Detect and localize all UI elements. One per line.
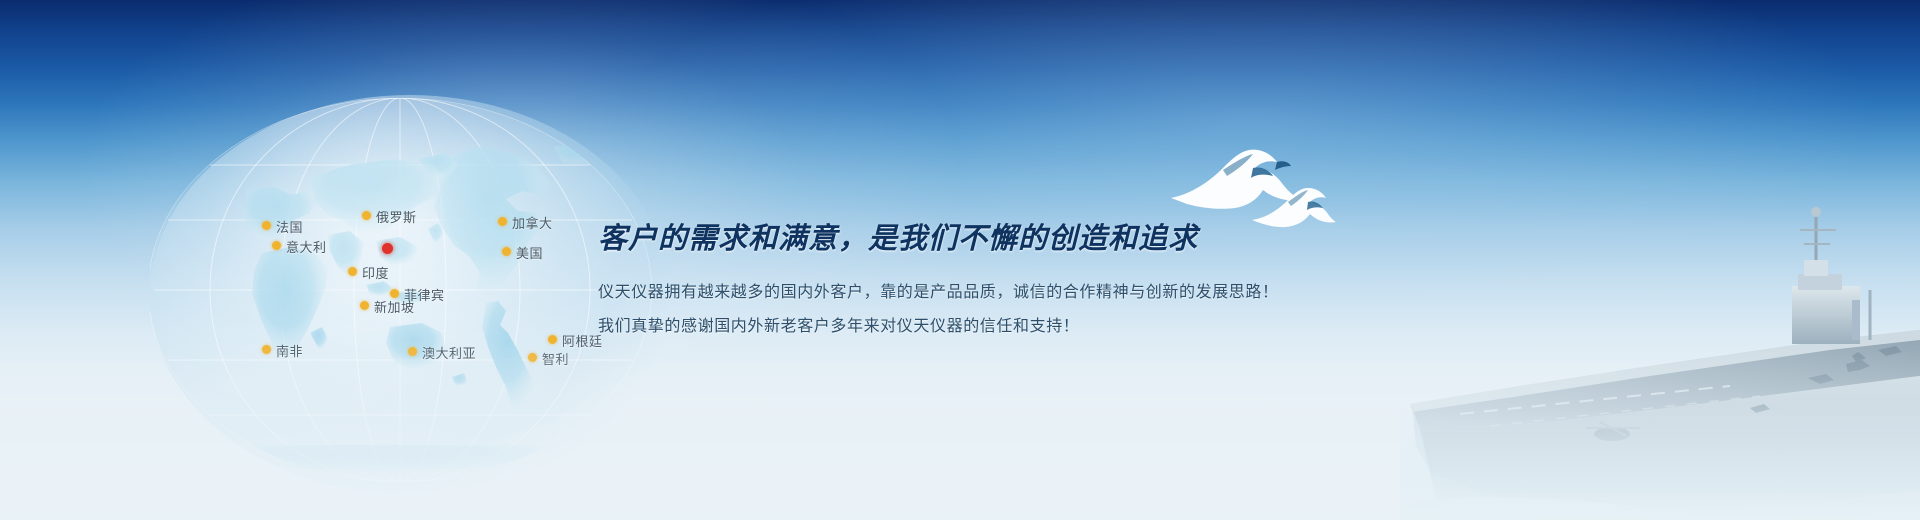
map-label: 新加坡 [374, 297, 415, 316]
map-marker-1[interactable] [272, 241, 281, 250]
map-marker-7[interactable] [360, 301, 369, 310]
map-marker-4[interactable] [502, 247, 511, 256]
map-marker-9[interactable] [408, 347, 417, 356]
banner-copy: 客户的需求和满意，是我们不懈的创造和追求 仪天仪器拥有越来越多的国内外客户，靠的… [598, 222, 1238, 343]
aircraft-carrier-image [1400, 190, 1920, 520]
map-label: 印度 [362, 263, 389, 282]
map-marker-0[interactable] [262, 221, 271, 230]
map-marker-active[interactable] [382, 243, 393, 254]
map-label: 俄罗斯 [376, 207, 417, 226]
map-marker-3[interactable] [498, 217, 507, 226]
map-label: 南非 [276, 341, 303, 360]
map-label: 澳大利亚 [422, 343, 476, 362]
banner-subline-2: 我们真挚的感谢国内外新老客户多年来对仪天仪器的信任和支持！ [598, 311, 1238, 343]
world-map-globe: 法国意大利俄罗斯加拿大美国印度菲律宾新加坡南非澳大利亚智利阿根廷 [150, 95, 670, 495]
map-label: 加拿大 [512, 213, 553, 232]
map-label: 阿根廷 [562, 331, 603, 350]
island-superstructure [1792, 286, 1860, 344]
map-marker-2[interactable] [362, 211, 371, 220]
banner-subline-1: 仪天仪器拥有越来越多的国内外客户，靠的是产品品质，诚信的合作精神与创新的发展思路… [598, 277, 1238, 309]
map-marker-10[interactable] [528, 353, 537, 362]
map-label: 意大利 [286, 237, 327, 256]
map-label: 法国 [276, 217, 303, 236]
map-marker-11[interactable] [548, 335, 557, 344]
map-label: 美国 [516, 243, 543, 262]
banner-headline: 客户的需求和满意，是我们不懈的创造和追求 [598, 222, 1238, 257]
map-marker-8[interactable] [262, 345, 271, 354]
hero-banner: 法国意大利俄罗斯加拿大美国印度菲律宾新加坡南非澳大利亚智利阿根廷 客户的需求和满… [0, 0, 1920, 520]
map-marker-5[interactable] [348, 267, 357, 276]
map-label: 智利 [542, 349, 569, 368]
seagull-small-icon [1248, 180, 1338, 245]
